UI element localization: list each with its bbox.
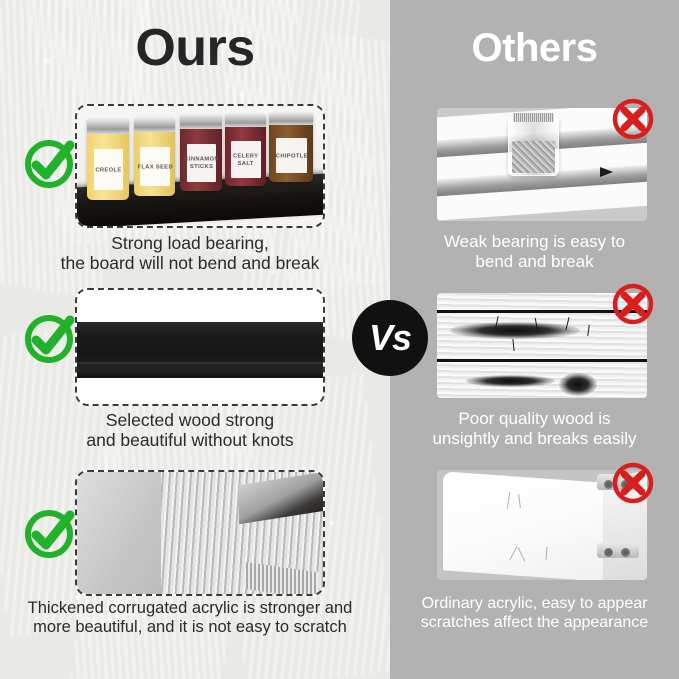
caption-line-1: Poor quality wood is: [393, 409, 676, 429]
caption-line-1: Thickened corrugated acrylic is stronger…: [14, 599, 366, 618]
vs-badge: Vs: [352, 300, 428, 376]
corrugated-acrylic-panel-image: [77, 472, 323, 594]
x-circle-icon: [610, 281, 656, 327]
caption-line-2: more beautiful, and it is not easy to sc…: [14, 618, 366, 637]
x-circle-icon: [610, 96, 656, 142]
caption-line-1: Weak bearing is easy to: [393, 232, 676, 252]
jar-label: CINNAMON STICKS: [183, 156, 220, 170]
others-caption-wood-quality: Poor quality wood is unsightly and break…: [393, 409, 676, 449]
caption-line-1: Ordinary acrylic, easy to appear: [393, 595, 676, 614]
others-caption-load-bearing: Weak bearing is easy to bend and break: [393, 232, 676, 272]
x-circle-icon: [610, 460, 656, 506]
jar-label: FLAX SEED: [137, 163, 173, 170]
ours-image-card-wood-quality: [75, 288, 325, 406]
page-title-others: Others: [390, 26, 679, 71]
caption-line-2: the board will not bend and break: [10, 253, 370, 273]
jar-label: CREOLE: [95, 166, 121, 173]
vs-label: Vs: [369, 320, 411, 356]
check-circle-icon: [22, 505, 78, 561]
caption-line-2: bend and break: [393, 252, 676, 272]
caption-line-2: unsightly and breaks easily: [393, 429, 676, 449]
solid-black-wood-board-image: [77, 290, 323, 404]
ours-caption-acrylic-quality: Thickened corrugated acrylic is stronger…: [14, 599, 366, 638]
check-circle-icon: [22, 135, 78, 191]
ours-caption-load-bearing: Strong load bearing, the board will not …: [10, 233, 370, 274]
ours-caption-wood-quality: Selected wood strong and beautiful witho…: [10, 410, 370, 451]
caption-line-1: Strong load bearing,: [10, 233, 370, 253]
check-circle-icon: [22, 310, 78, 366]
caption-line-2: scratches affect the appearance: [393, 614, 676, 633]
jar-label: CELERY SALT: [228, 152, 265, 166]
spice-jars-on-black-shelf-image: CREOLE FLAX SEED CINNAMON STICKS CELERY …: [77, 106, 323, 226]
ours-image-card-load-bearing: CREOLE FLAX SEED CINNAMON STICKS CELERY …: [75, 104, 325, 228]
caption-line-2: and beautiful without knots: [10, 430, 370, 450]
caption-line-1: Selected wood strong: [10, 410, 370, 430]
page-title-ours: Ours: [0, 18, 390, 78]
comparison-infographic: Ours Others CREOLE FLAX SEED: [0, 0, 679, 679]
jar-label: CHIPOTLE: [275, 152, 307, 159]
others-caption-acrylic-quality: Ordinary acrylic, easy to appear scratch…: [393, 595, 676, 632]
ours-image-card-acrylic-quality: [75, 470, 325, 596]
